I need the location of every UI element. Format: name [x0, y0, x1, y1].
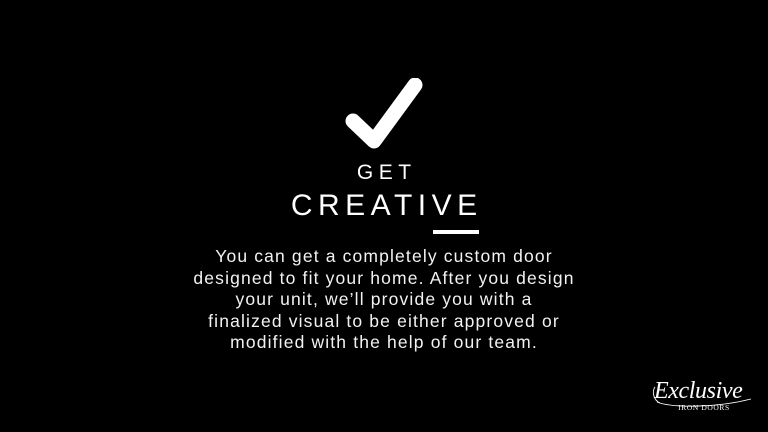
body-line: your unit, we’ll provide you with a	[134, 289, 634, 311]
page-title-line2: CREATIVE	[285, 188, 482, 223]
slide-content: GET CREATIVE You can get a completely cu…	[0, 0, 768, 432]
body-line: modified with the help of our team.	[134, 332, 634, 354]
svg-text:IRON DOORS: IRON DOORS	[678, 403, 730, 412]
brand-logo: Exclusive IRON DOORS	[650, 374, 758, 414]
heading-block: GET CREATIVE	[285, 162, 482, 223]
body-line: designed to fit your home. After you des…	[134, 268, 634, 290]
page-title-line1: GET	[285, 162, 482, 185]
body-paragraph: You can get a completely custom door des…	[134, 246, 634, 354]
checkmark-icon	[344, 78, 424, 152]
body-line: finalized visual to be either approved o…	[134, 311, 634, 333]
title-divider	[433, 230, 479, 234]
slide-root: GET CREATIVE You can get a completely cu…	[0, 0, 768, 432]
svg-text:Exclusive: Exclusive	[653, 378, 743, 404]
body-line: You can get a completely custom door	[134, 246, 634, 268]
